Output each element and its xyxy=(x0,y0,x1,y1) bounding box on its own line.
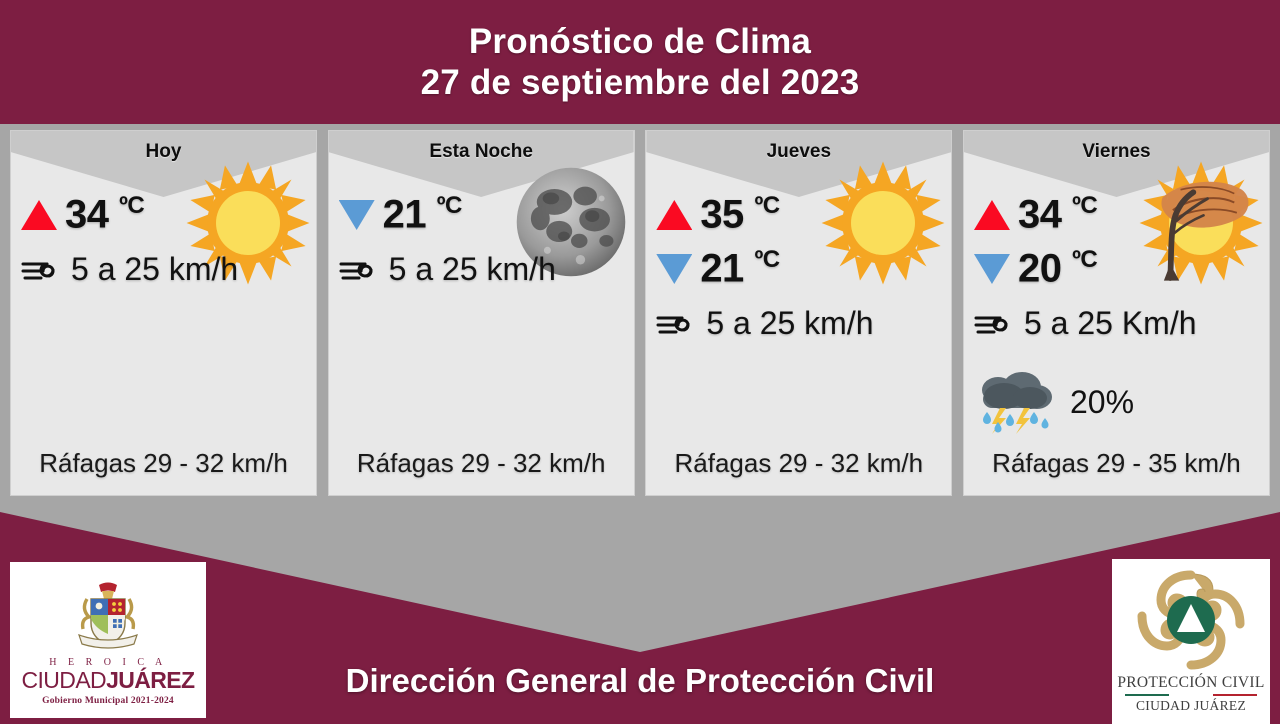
temperature-group: 34 ºC xyxy=(21,189,306,241)
wind-row: 5 a 25 km/h xyxy=(656,305,941,342)
forecast-card-viernes[interactable]: Viernes xyxy=(963,130,1270,496)
card-body: 35 ºC 21 ºC 5 a xyxy=(646,189,951,342)
up-triangle-icon xyxy=(21,200,57,230)
gusts-text: Ráfagas 29 - 32 km/h xyxy=(11,448,316,479)
wind-icon xyxy=(974,307,1020,341)
gusts-text: Ráfagas 29 - 32 km/h xyxy=(646,448,951,479)
card-body: 34 ºC 20 ºC 5 a xyxy=(964,189,1269,434)
wind-speed-text: 5 a 25 km/h xyxy=(71,251,238,288)
logo-proteccion-civil-subtitle: CIUDAD JUÁREZ xyxy=(1136,698,1246,714)
wind-icon xyxy=(656,307,702,341)
wind-icon xyxy=(21,253,67,287)
logo-city-bold: JUÁREZ xyxy=(106,667,194,693)
down-triangle-icon xyxy=(656,254,692,284)
card-body: 21 ºC 5 a 25 km/h xyxy=(329,189,634,288)
logo-proteccion-civil-title: PROTECCIÓN CIVIL xyxy=(1117,674,1264,692)
gusts-text: Ráfagas 29 - 32 km/h xyxy=(329,448,634,479)
forecast-card-esta-noche[interactable]: Esta Noche xyxy=(328,130,635,496)
forecast-card-hoy[interactable]: Hoy 34 ºC xyxy=(10,130,317,496)
card-title: Jueves xyxy=(646,141,951,163)
ciudad-juarez-logo: H E R O I C A CIUDADJUÁREZ Gobierno Muni… xyxy=(10,562,206,718)
page-title-line-2: 27 de septiembre del 2023 xyxy=(421,62,860,103)
down-triangle-icon xyxy=(339,200,375,230)
wind-speed-text: 5 a 25 km/h xyxy=(389,251,556,288)
up-triangle-icon xyxy=(656,200,692,230)
high-temperature-value: 35 ºC xyxy=(700,192,779,237)
temperature-group: 34 ºC 20 ºC xyxy=(974,189,1259,295)
rain-probability-row: 20% xyxy=(974,370,1259,434)
low-temperature-value: 21 ºC xyxy=(700,246,779,291)
wind-row: 5 a 25 km/h xyxy=(339,251,624,288)
high-temperature-row: 34 ºC xyxy=(974,189,1259,241)
coat-of-arms-icon xyxy=(69,579,147,655)
low-temperature-row: 21 ºC xyxy=(339,189,624,241)
logo-city-text: CIUDADJUÁREZ xyxy=(22,668,195,692)
card-title: Viernes xyxy=(964,141,1269,163)
proteccion-civil-emblem-icon xyxy=(1137,570,1245,670)
wind-icon xyxy=(339,253,385,287)
up-triangle-icon xyxy=(974,200,1010,230)
high-temperature-row: 34 ºC xyxy=(21,189,306,241)
forecast-card-row: Hoy 34 ºC xyxy=(0,130,1280,496)
card-body: 34 ºC 5 a 25 km/h xyxy=(11,189,316,288)
wind-row: 5 a 25 Km/h xyxy=(974,305,1259,342)
temperature-group: 35 ºC 21 ºC xyxy=(656,189,941,295)
low-temperature-row: 21 ºC xyxy=(656,243,941,295)
forecast-card-jueves[interactable]: Jueves 35 ºC xyxy=(645,130,952,496)
header-banner: Pronóstico de Clima 27 de septiembre del… xyxy=(0,0,1280,124)
logo-city-thin: CIUDAD xyxy=(22,667,107,693)
logo-government-text: Gobierno Municipal 2021-2024 xyxy=(42,696,174,706)
high-temperature-value: 34 ºC xyxy=(1018,192,1097,237)
down-triangle-icon xyxy=(974,254,1010,284)
high-temperature-value: 34 ºC xyxy=(65,192,144,237)
low-temperature-value: 21 ºC xyxy=(383,192,462,237)
wind-row: 5 a 25 km/h xyxy=(21,251,306,288)
card-title: Esta Noche xyxy=(329,141,634,163)
thunderstorm-rain-icon xyxy=(974,370,1056,434)
card-title: Hoy xyxy=(11,141,316,163)
rain-probability-text: 20% xyxy=(1070,384,1134,421)
low-temperature-row: 20 ºC xyxy=(974,243,1259,295)
proteccion-civil-logo: PROTECCIÓN CIVIL CIUDAD JUÁREZ xyxy=(1112,559,1270,724)
low-temperature-value: 20 ºC xyxy=(1018,246,1097,291)
page-title-line-1: Pronóstico de Clima xyxy=(469,21,811,62)
wind-speed-text: 5 a 25 Km/h xyxy=(1024,305,1197,342)
gusts-text: Ráfagas 29 - 35 km/h xyxy=(964,448,1269,479)
temperature-group: 21 ºC xyxy=(339,189,624,241)
high-temperature-row: 35 ºC xyxy=(656,189,941,241)
wind-speed-text: 5 a 25 km/h xyxy=(706,305,873,342)
logo-rule-divider xyxy=(1125,694,1257,696)
